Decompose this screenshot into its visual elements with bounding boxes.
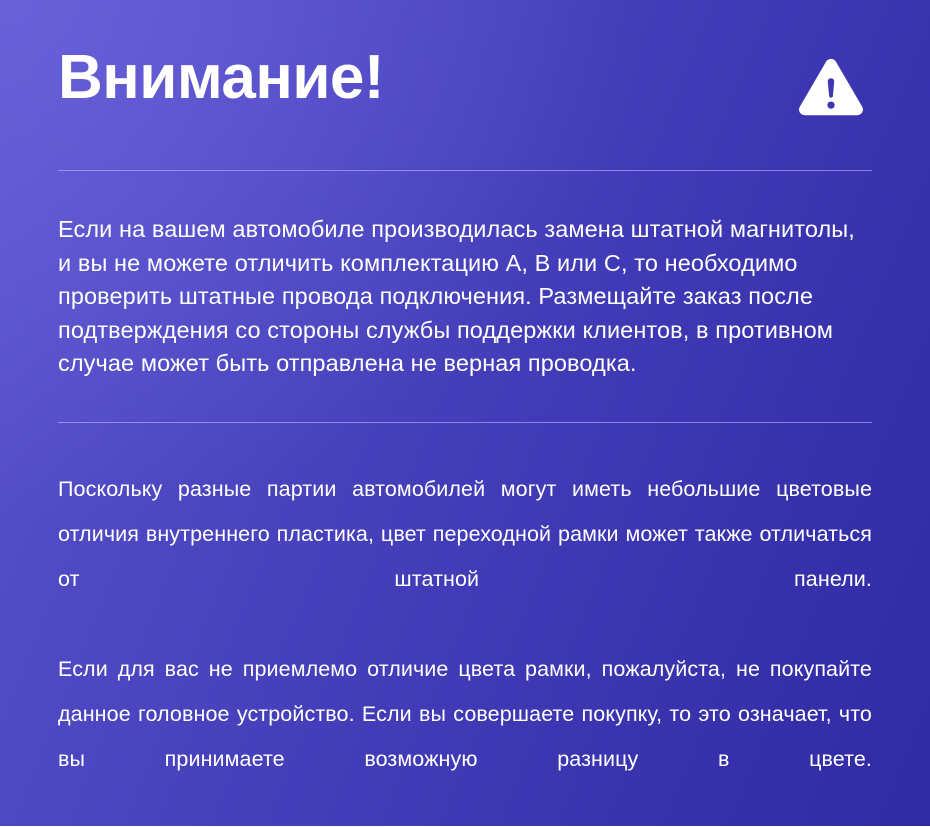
- page-title: Внимание!: [58, 47, 384, 109]
- notice-primary-block: Если на вашем автомобиле производилась з…: [58, 171, 872, 422]
- warning-banner: Внимание! Если на вашем автомобиле произ…: [0, 0, 930, 826]
- notice-primary-text: Если на вашем автомобиле производилась з…: [58, 213, 872, 381]
- notice-secondary-paragraph-2: Если для вас не приемлемо отличие цвета …: [58, 647, 872, 827]
- notice-secondary-paragraph-1: Поскольку разные партии автомобилей могу…: [58, 467, 872, 647]
- warning-triangle-icon: [798, 58, 864, 120]
- banner-header: Внимание!: [58, 0, 872, 170]
- notice-secondary-block: Поскольку разные партии автомобилей могу…: [58, 423, 872, 827]
